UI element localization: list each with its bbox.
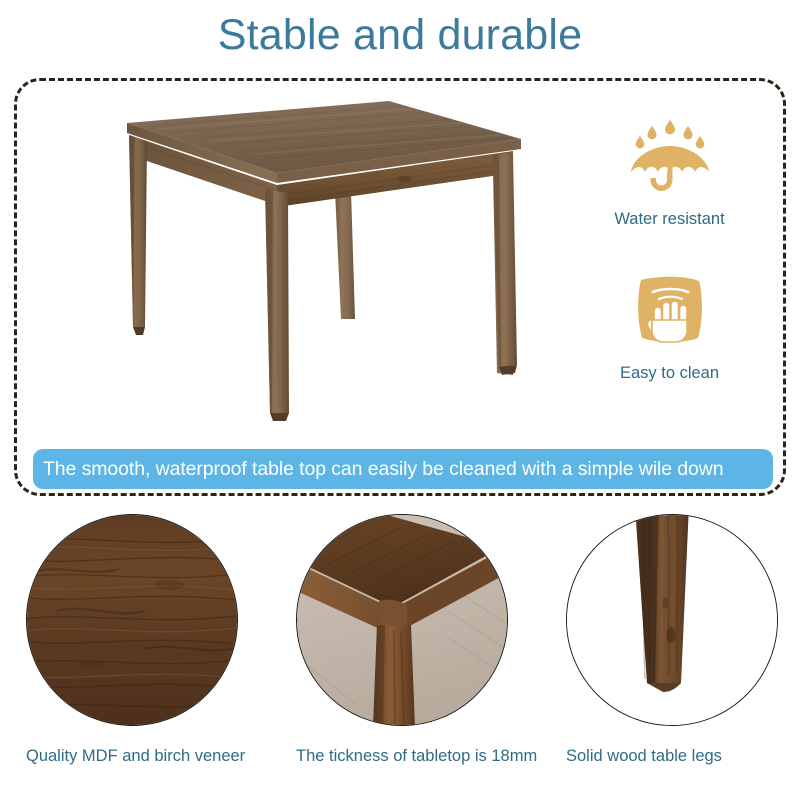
feature-label: Water resistant [614, 209, 724, 229]
detail-item-thickness: The tickness of tabletop is 18mm [282, 508, 522, 798]
hand-wiping-cloth-icon [624, 265, 716, 357]
tapered-solid-wood-leg-closeup [566, 514, 778, 726]
feature-list: Water resistant [562, 111, 777, 383]
product-table-image [89, 93, 549, 423]
detail-caption: Quality MDF and birch veneer [12, 746, 262, 767]
table-svg [89, 93, 549, 423]
detail-caption: Solid wood table legs [552, 746, 800, 767]
feature-easy-to-clean: Easy to clean [620, 265, 719, 383]
highlight-banner: The smooth, waterproof table top can eas… [33, 449, 773, 489]
tabletop-wood-grain-closeup [26, 514, 238, 726]
umbrella-rain-icon [624, 111, 716, 203]
feature-label: Easy to clean [620, 363, 719, 383]
detail-caption: The tickness of tabletop is 18mm [282, 746, 532, 767]
detail-item-leg: Solid wood table legs [552, 508, 792, 798]
hero-panel: Water resistant [14, 78, 786, 496]
banner-text: The smooth, waterproof table top can eas… [43, 457, 724, 481]
detail-item-tabletop: Quality MDF and birch veneer [12, 508, 252, 798]
table-corner-thickness-closeup [296, 514, 508, 726]
product-infographic-page: Stable and durable [0, 0, 800, 800]
page-title: Stable and durable [0, 8, 800, 62]
detail-row: Quality MDF and birch veneer [0, 508, 800, 798]
feature-water-resistant: Water resistant [614, 111, 724, 229]
